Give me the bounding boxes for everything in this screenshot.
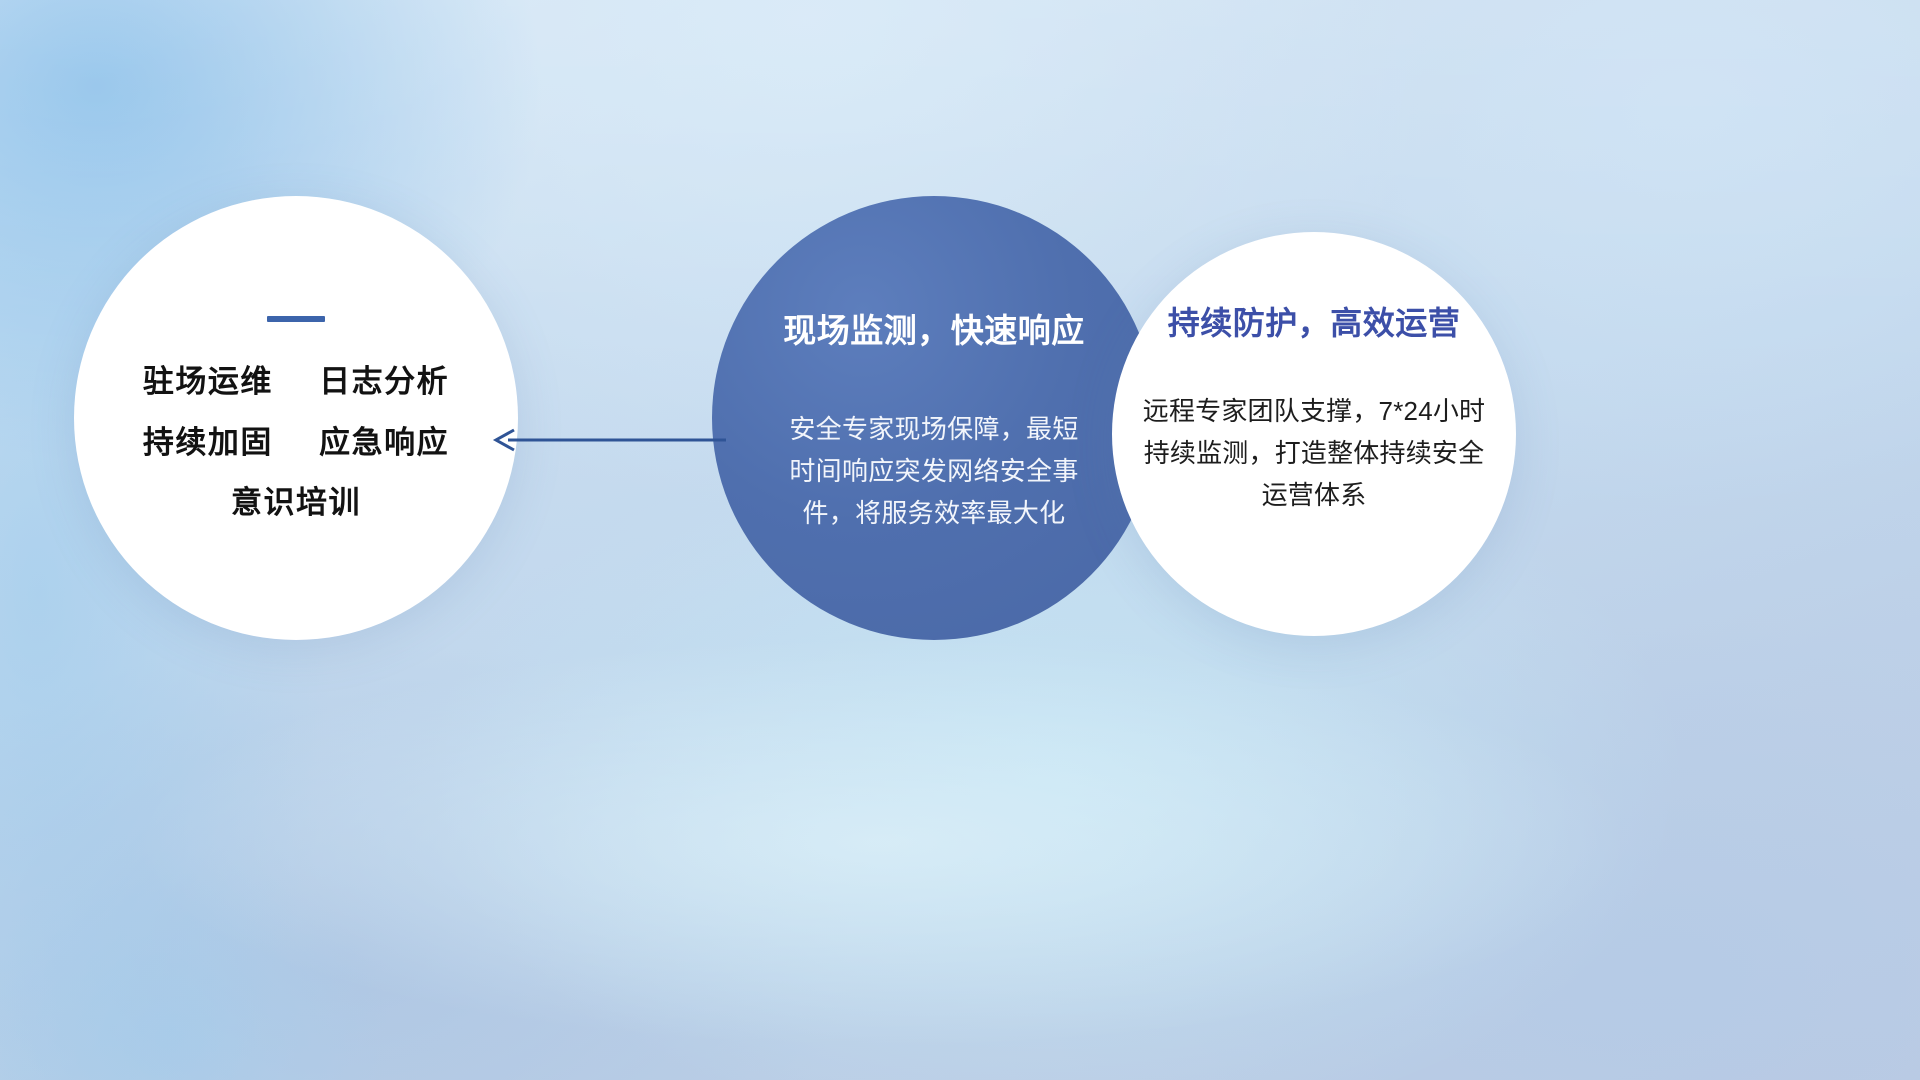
divider-dash-icon bbox=[267, 316, 325, 322]
middle-card-content: 现场监测，快速响应 安全专家现场保障，最短时间响应突发网络安全事件，将服务效率最… bbox=[712, 196, 1156, 640]
right-card-body-text: 远程专家团队支撑，7*24小时持续监测，打造整体持续安全运营体系 bbox=[1142, 390, 1486, 516]
middle-card-body-text: 安全专家现场保障，最短时间响应突发网络安全事件，将服务效率最大化 bbox=[784, 408, 1084, 534]
left-card-keyword-3: 持续加固 bbox=[143, 425, 273, 460]
left-card-content: 驻场运维 日志分析 持续加固 应急响应 意识培训 bbox=[74, 196, 518, 640]
left-card-line-2: 持续加固 应急响应 bbox=[143, 427, 449, 460]
left-white-circle-card[interactable]: 驻场运维 日志分析 持续加固 应急响应 意识培训 bbox=[74, 196, 518, 640]
middle-blue-circle-card[interactable]: 现场监测，快速响应 安全专家现场保障，最短时间响应突发网络安全事件，将服务效率最… bbox=[712, 196, 1156, 640]
right-card-title: 持续防护，高效运营 bbox=[1168, 298, 1461, 344]
left-card-keyword-2: 日志分析 bbox=[319, 364, 449, 399]
left-card-keyword-1: 驻场运维 bbox=[143, 364, 273, 399]
right-card-content: 持续防护，高效运营 远程专家团队支撑，7*24小时持续监测，打造整体持续安全运营… bbox=[1112, 232, 1516, 636]
left-card-keyword-5: 意识培训 bbox=[231, 485, 361, 520]
left-card-line-1: 驻场运维 日志分析 bbox=[143, 366, 449, 399]
right-white-circle-card[interactable]: 持续防护，高效运营 远程专家团队支撑，7*24小时持续监测，打造整体持续安全运营… bbox=[1112, 232, 1516, 636]
left-card-keyword-4: 应急响应 bbox=[319, 425, 449, 460]
middle-card-title: 现场监测，快速响应 bbox=[724, 304, 1144, 352]
left-card-line-3: 意识培训 bbox=[231, 487, 361, 520]
arrow-left-icon bbox=[492, 424, 728, 456]
